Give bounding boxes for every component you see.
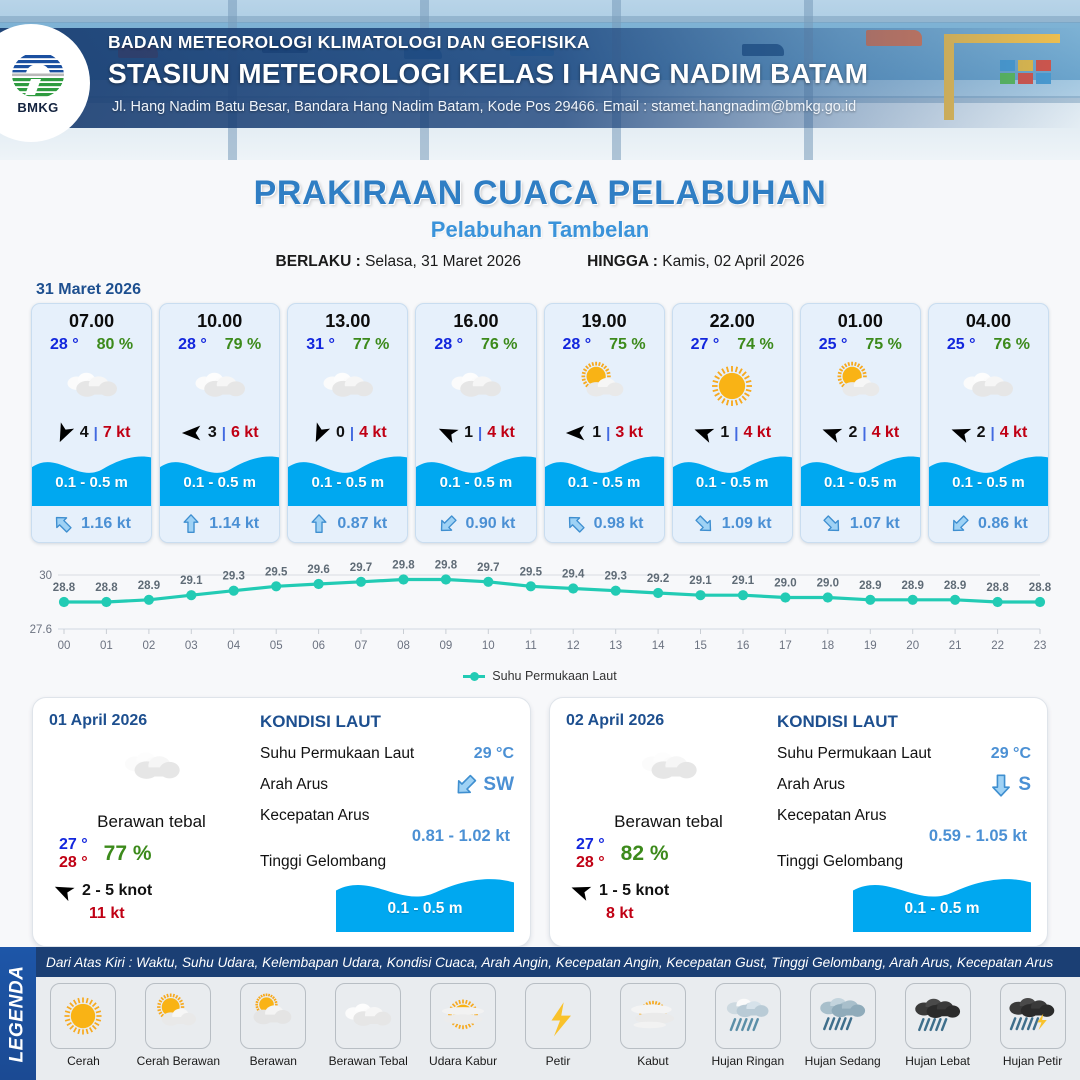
daily-temp-humidity: 27 ° 28 ° 77 % [49,836,254,872]
svg-text:28.8: 28.8 [1029,582,1052,594]
svg-text:07: 07 [355,640,368,652]
legend-item-label: Cerah [67,1054,100,1068]
wind-direction-value: 0 [336,424,345,442]
legend-icon-box [715,983,781,1049]
air-temperature: 28 ° [178,336,207,354]
daily-left-column: 01 April 2026 Berawan tebal 27 ° 28 ° 77… [49,712,254,934]
wind-row: 0 | 4 kt [288,418,407,448]
cerah-berawan-icon [576,358,632,414]
forecast-time: 04.00 [929,304,1048,332]
current-direction-icon [48,508,79,539]
berawan-icon [247,990,299,1042]
legend-item: Petir [515,983,601,1068]
wind-speed: 4 kt [743,424,771,442]
current-speed-label: Kecepatan Arus [260,807,369,825]
forecast-time: 01.00 [801,304,920,332]
sst-value: 29 °C [991,745,1031,763]
air-temperature: 28 ° [50,336,79,354]
berawan-tebal-icon [342,990,394,1042]
valid-to: HINGGA : Kamis, 02 April 2026 [587,253,804,271]
forecast-time: 07.00 [32,304,151,332]
svg-text:09: 09 [440,640,453,652]
daily-temp-max: 28 ° [576,854,605,872]
current-direction-icon [432,508,463,539]
legend-bar: LEGENDA Dari Atas Kiri : Waktu, Suhu Uda… [0,947,1080,1080]
sea-condition-title: KONDISI LAUT [777,712,1031,732]
svg-text:28.9: 28.9 [944,580,966,592]
cerah-berawan-icon [152,990,204,1042]
current-speed-label: Kecepatan Arus [777,807,886,825]
wind-direction-icon [181,422,203,444]
legend-icon-box [145,983,211,1049]
wind-direction-icon [565,422,587,444]
forecast-card-row: 07.00 28 ° 80 % 4 | 7 kt 0.1 - 0.5 m [0,303,1080,543]
wind-separator: | [94,425,98,442]
svg-text:16: 16 [737,640,750,652]
daily-gust: 8 kt [566,905,771,923]
current-speed-value: 0.81 - 1.02 kt [260,827,514,846]
wind-row: 1 | 3 kt [545,418,664,448]
berawan-tebal-icon [320,358,376,414]
air-temperature: 27 ° [691,336,720,354]
temp-humidity-row: 28 ° 76 % [416,336,535,354]
sst-value: 29 °C [474,745,514,763]
temp-humidity-row: 28 ° 75 % [545,336,664,354]
svg-text:01: 01 [100,640,113,652]
wave-height-block: 0.1 - 0.5 m [801,448,920,506]
daily-weather-icon [566,736,771,798]
wind-separator: | [606,425,610,442]
svg-text:18: 18 [821,640,834,652]
daily-wind-row: 1 - 5 knot [566,880,771,902]
legend-item: Kabut [610,983,696,1068]
legend-item: Hujan Petir [990,983,1076,1068]
current-speed-value: 0.59 - 1.05 kt [777,827,1031,846]
sea-condition-title: KONDISI LAUT [260,712,514,732]
daily-gust: 11 kt [49,905,254,923]
svg-text:23: 23 [1034,640,1047,652]
forecast-card[interactable]: 10.00 28 ° 79 % 3 | 6 kt 0.1 - 0.5 m [159,303,280,543]
wind-speed: 4 kt [359,424,387,442]
legend-item-label: Hujan Sedang [805,1054,881,1068]
air-temperature: 25 ° [947,336,976,354]
legend-item-label: Berawan [250,1054,297,1068]
temp-humidity-row: 28 ° 79 % [160,336,279,354]
hujan-petir-icon [1007,990,1059,1042]
forecast-time: 22.00 [673,304,792,332]
svg-text:17: 17 [779,640,792,652]
daily-temp-min: 27 ° [59,836,88,854]
legend-item: Hujan Sedang [800,983,886,1068]
wind-direction-value: 1 [720,424,729,442]
wave-height-value: 0.1 - 0.5 m [673,474,792,491]
daily-summary-card[interactable]: 01 April 2026 Berawan tebal 27 ° 28 ° 77… [32,697,531,947]
hujan-lebat-icon [912,990,964,1042]
svg-text:29.8: 29.8 [392,560,415,572]
svg-text:29.8: 29.8 [435,560,458,572]
current-speed: 1.14 kt [209,515,259,533]
forecast-date-label: 31 Maret 2026 [36,281,1080,299]
wind-speed: 6 kt [231,424,259,442]
current-speed: 0.98 kt [594,515,644,533]
chart-legend: Suhu Permukaan Laut [0,669,1080,683]
svg-text:29.4: 29.4 [562,569,585,581]
cerah-berawan-icon [832,358,888,414]
daily-condition: Berawan tebal [49,812,254,832]
air-temperature: 25 ° [819,336,848,354]
daily-sea-column: KONDISI LAUT Suhu Permukaan Laut 29 °C A… [254,712,514,934]
current-speed: 1.16 kt [81,515,131,533]
wind-direction-value: 1 [464,424,473,442]
daily-wind-row: 2 - 5 knot [49,880,254,902]
sst-chart: 3027.628.80028.80128.90229.10329.30429.5… [0,557,1080,667]
svg-text:29.7: 29.7 [350,562,372,574]
wave-height-block: 0.1 - 0.5 m [673,448,792,506]
daily-wave-value: 0.1 - 0.5 m [336,900,514,918]
wind-direction-icon [818,419,846,447]
sea-row-current-dir: Arah Arus S [777,769,1031,800]
udara-kabur-icon [437,990,489,1042]
cerah-icon [704,358,760,414]
wind-direction-icon [946,419,974,447]
daily-humidity: 77 % [104,842,152,866]
wave-height-block: 0.1 - 0.5 m [160,448,279,506]
svg-text:29.0: 29.0 [774,578,796,590]
current-row: 1.16 kt [32,506,151,542]
header-text-block: BADAN METEOROLOGI KLIMATOLOGI DAN GEOFIS… [108,32,868,115]
wind-direction-value: 2 [977,424,986,442]
current-row: 1.09 kt [673,506,792,542]
wave-height-block: 0.1 - 0.5 m [545,448,664,506]
wind-row: 3 | 6 kt [160,418,279,448]
berawan-tebal-icon [448,358,504,414]
legend-icon-box [430,983,496,1049]
daily-temp-column: 27 ° 28 ° [576,836,605,872]
legend-item-label: Petir [546,1054,571,1068]
wind-row: 1 | 4 kt [416,418,535,448]
legend-item: Hujan Lebat [895,983,981,1068]
forecast-card[interactable]: 16.00 28 ° 76 % 1 | 4 kt 0.1 - 0.5 m [415,303,536,543]
valid-from: BERLAKU : Selasa, 31 Maret 2026 [276,253,522,271]
forecast-card[interactable]: 13.00 31 ° 77 % 0 | 4 kt 0.1 - 0.5 m [287,303,408,543]
forecast-time: 16.00 [416,304,535,332]
wind-direction-value: 4 [80,424,89,442]
svg-text:28.8: 28.8 [986,582,1009,594]
wave-height-value: 0.1 - 0.5 m [288,474,407,491]
legend-item-label: Hujan Ringan [711,1054,784,1068]
wind-speed: 4 kt [487,424,515,442]
svg-text:29.1: 29.1 [689,575,712,587]
svg-text:08: 08 [397,640,410,652]
legend-icon-box [525,983,591,1049]
station-address: Jl. Hang Nadim Batu Besar, Bandara Hang … [112,99,868,115]
svg-text:30: 30 [39,570,52,582]
current-speed: 0.90 kt [466,515,516,533]
forecast-time: 13.00 [288,304,407,332]
air-temperature: 31 ° [306,336,335,354]
svg-text:02: 02 [143,640,156,652]
legend-side-text: LEGENDA [7,965,29,1062]
daily-condition: Berawan tebal [566,812,771,832]
daily-date: 02 April 2026 [566,712,771,730]
forecast-card[interactable]: 01.00 25 ° 75 % 2 | 4 kt 0.1 - 0.5 m 1.0… [800,303,921,543]
wave-height-block: 0.1 - 0.5 m [288,448,407,506]
air-temperature: 28 ° [434,336,463,354]
weather-condition-icon [416,356,535,416]
agency-name: BADAN METEOROLOGI KLIMATOLOGI DAN GEOFIS… [108,32,868,53]
wind-speed: 7 kt [103,424,131,442]
legend-icon-box [1000,983,1066,1049]
daily-wind-range: 2 - 5 knot [82,882,152,900]
wind-separator: | [734,425,738,442]
current-dir-value: S [1018,774,1031,796]
svg-text:11: 11 [525,640,537,652]
wind-speed: 3 kt [615,424,643,442]
temp-humidity-row: 28 ° 80 % [32,336,151,354]
wave-height-value: 0.1 - 0.5 m [416,474,535,491]
page-subtitle: Pelabuhan Tambelan [0,217,1080,243]
forecast-time: 10.00 [160,304,279,332]
wave-height-value: 0.1 - 0.5 m [545,474,664,491]
sst-label: Suhu Permukaan Laut [777,745,931,763]
svg-text:14: 14 [652,640,665,652]
current-row: 0.87 kt [288,506,407,542]
svg-text:29.6: 29.6 [307,564,329,576]
weather-condition-icon [160,356,279,416]
cerah-icon [57,990,109,1042]
page-header: BMKG BADAN METEOROLOGI KLIMATOLOGI DAN G… [0,0,1080,160]
wave-height-block: 0.1 - 0.5 m [32,448,151,506]
forecast-card[interactable]: 04.00 25 ° 76 % 2 | 4 kt 0.1 - 0.5 m [928,303,1049,543]
wind-direction-icon [433,418,462,447]
wave-height-value: 0.1 - 0.5 m [32,474,151,491]
daily-date: 01 April 2026 [49,712,254,730]
wind-row: 2 | 4 kt [929,418,1048,448]
svg-text:00: 00 [58,640,71,652]
daily-wave-value: 0.1 - 0.5 m [853,900,1031,918]
svg-text:12: 12 [567,640,580,652]
svg-text:28.9: 28.9 [902,580,924,592]
current-row: 1.14 kt [160,506,279,542]
wind-direction-icon [49,418,78,447]
current-dir-label: Arah Arus [260,776,328,794]
hujan-sedang-icon [817,990,869,1042]
legend-item: Udara Kabur [420,983,506,1068]
current-direction-icon [988,772,1014,798]
valid-from-value: Selasa, 31 Maret 2026 [365,253,521,270]
station-name: STASIUN METEOROLOGI KELAS I HANG NADIM B… [108,58,868,90]
valid-from-label: BERLAKU : [276,253,361,270]
legend-item-list: Cerah Cerah Berawan Berawan [36,977,1080,1068]
wind-separator: | [991,425,995,442]
forecast-time: 19.00 [545,304,664,332]
temp-humidity-row: 25 ° 75 % [801,336,920,354]
legend-icon-box [50,983,116,1049]
daily-wind-range: 1 - 5 knot [599,882,669,900]
svg-text:06: 06 [312,640,325,652]
berawan-tebal-icon [121,736,183,798]
wind-separator: | [350,425,354,442]
svg-text:27.6: 27.6 [30,624,52,636]
current-direction-icon [944,508,975,539]
svg-text:29.3: 29.3 [223,571,245,583]
wind-direction-icon [690,419,718,447]
svg-text:29.3: 29.3 [605,571,627,583]
legend-icon-box [905,983,971,1049]
current-direction-icon [560,508,591,539]
bmkg-logo-mark [12,52,64,98]
current-direction-icon [448,766,485,803]
kabut-icon [627,990,679,1042]
svg-text:22: 22 [991,640,1004,652]
wind-speed: 4 kt [872,424,900,442]
wind-direction-value: 1 [592,424,601,442]
sea-row-sst: Suhu Permukaan Laut 29 °C [777,738,1031,769]
current-dir-value-group: SW [453,772,514,798]
humidity: 76 % [481,336,517,354]
current-speed: 0.87 kt [337,515,387,533]
wave-height-value: 0.1 - 0.5 m [160,474,279,491]
humidity: 74 % [737,336,773,354]
legend-item-label: Hujan Petir [1003,1054,1062,1068]
wind-row: 2 | 4 kt [801,418,920,448]
legend-item-label: Cerah Berawan [137,1054,220,1068]
hujan-ringan-icon [722,990,774,1042]
page-title: PRAKIRAAN CUACA PELABUHAN [0,174,1080,213]
wave-height-block: 0.1 - 0.5 m [929,448,1048,506]
daily-summary-row: 01 April 2026 Berawan tebal 27 ° 28 ° 77… [0,683,1080,947]
wave-height-value: 0.1 - 0.5 m [801,474,920,491]
berawan-tebal-icon [960,358,1016,414]
current-row: 0.98 kt [545,506,664,542]
daily-wave-graphic: 0.1 - 0.5 m [853,870,1031,932]
svg-text:29.1: 29.1 [732,575,755,587]
forecast-card[interactable]: 19.00 28 ° 75 % 1 | 3 kt 0.1 - 0.5 m 0.9… [544,303,665,543]
wind-row: 4 | 7 kt [32,418,151,448]
current-speed: 0.86 kt [978,515,1028,533]
current-direction-icon [816,508,847,539]
berawan-tebal-icon [192,358,248,414]
humidity: 75 % [609,336,645,354]
wind-direction-value: 2 [848,424,857,442]
validity-row: BERLAKU : Selasa, 31 Maret 2026 HINGGA :… [0,253,1080,271]
svg-text:15: 15 [694,640,707,652]
legend-item: Berawan Tebal [325,983,411,1068]
humidity: 77 % [353,336,389,354]
legend-item-label: Kabut [637,1054,668,1068]
daily-humidity: 82 % [621,842,669,866]
daily-sea-column: KONDISI LAUT Suhu Permukaan Laut 29 °C A… [771,712,1031,934]
svg-text:20: 20 [906,640,919,652]
wind-speed: 4 kt [1000,424,1028,442]
window-beam-top [0,16,1080,23]
chart-legend-label: Suhu Permukaan Laut [492,669,616,683]
forecast-card[interactable]: 22.00 27 ° 74 % 1 | 4 kt 0.1 - 0.5 m 1.0… [672,303,793,543]
temp-humidity-row: 27 ° 74 % [673,336,792,354]
weather-condition-icon [32,356,151,416]
legend-item: Berawan [230,983,316,1068]
svg-text:28.9: 28.9 [138,580,160,592]
humidity: 79 % [225,336,261,354]
legend-item: Cerah Berawan [135,983,221,1068]
current-dir-value: SW [483,774,514,796]
svg-text:05: 05 [270,640,283,652]
temp-humidity-row: 31 ° 77 % [288,336,407,354]
chart-legend-marker-icon [463,675,485,678]
wind-direction-icon [567,877,595,905]
svg-text:21: 21 [949,640,962,652]
svg-text:29.5: 29.5 [265,566,288,578]
humidity: 76 % [994,336,1030,354]
svg-text:13: 13 [609,640,622,652]
svg-text:03: 03 [185,640,198,652]
wind-direction-icon [305,418,334,447]
svg-text:10: 10 [482,640,495,652]
daily-temp-max: 28 ° [59,854,88,872]
current-dir-label: Arah Arus [777,776,845,794]
weather-condition-icon [288,356,407,416]
bmkg-emblem-icon [12,52,64,98]
legend-icon-box [335,983,401,1049]
current-row: 0.86 kt [929,506,1048,542]
current-direction-icon [180,513,202,535]
svg-text:29.0: 29.0 [817,578,839,590]
svg-text:29.7: 29.7 [477,562,499,574]
humidity: 80 % [97,336,133,354]
legend-side-label: LEGENDA [0,947,36,1080]
svg-text:29.2: 29.2 [647,573,669,585]
humidity: 75 % [865,336,901,354]
wind-direction-value: 3 [208,424,217,442]
air-temperature: 28 ° [563,336,592,354]
svg-text:28.8: 28.8 [95,582,118,594]
weather-condition-icon [929,356,1048,416]
legend-icon-box [620,983,686,1049]
daily-weather-icon [49,736,254,798]
sea-row-sst: Suhu Permukaan Laut 29 °C [260,738,514,769]
weather-condition-icon [801,356,920,416]
wind-row: 1 | 4 kt [673,418,792,448]
wave-height-block: 0.1 - 0.5 m [416,448,535,506]
current-direction-icon [688,508,719,539]
current-row: 0.90 kt [416,506,535,542]
weather-condition-icon [673,356,792,416]
svg-text:29.1: 29.1 [180,575,203,587]
daily-temp-min: 27 ° [576,836,605,854]
wave-height-label: Tinggi Gelombang [777,853,903,871]
svg-text:19: 19 [864,640,877,652]
wind-direction-icon [49,876,78,905]
weather-condition-icon [545,356,664,416]
forecast-card[interactable]: 07.00 28 ° 80 % 4 | 7 kt 0.1 - 0.5 m [31,303,152,543]
legend-caption: Dari Atas Kiri : Waktu, Suhu Udara, Kele… [36,947,1080,977]
svg-text:28.9: 28.9 [859,580,881,592]
svg-text:28.8: 28.8 [53,582,76,594]
legend-icon-box [810,983,876,1049]
daily-temp-humidity: 27 ° 28 ° 82 % [566,836,771,872]
daily-summary-card[interactable]: 02 April 2026 Berawan tebal 27 ° 28 ° 82… [549,697,1048,947]
wind-separator: | [222,425,226,442]
legend-item-label: Hujan Lebat [905,1054,970,1068]
current-speed: 1.09 kt [722,515,772,533]
bmkg-logo-label: BMKG [17,100,58,115]
valid-to-label: HINGGA : [587,253,658,270]
daily-temp-column: 27 ° 28 ° [59,836,88,872]
current-speed: 1.07 kt [850,515,900,533]
current-row: 1.07 kt [801,506,920,542]
temp-humidity-row: 25 ° 76 % [929,336,1048,354]
svg-text:29.5: 29.5 [520,566,543,578]
